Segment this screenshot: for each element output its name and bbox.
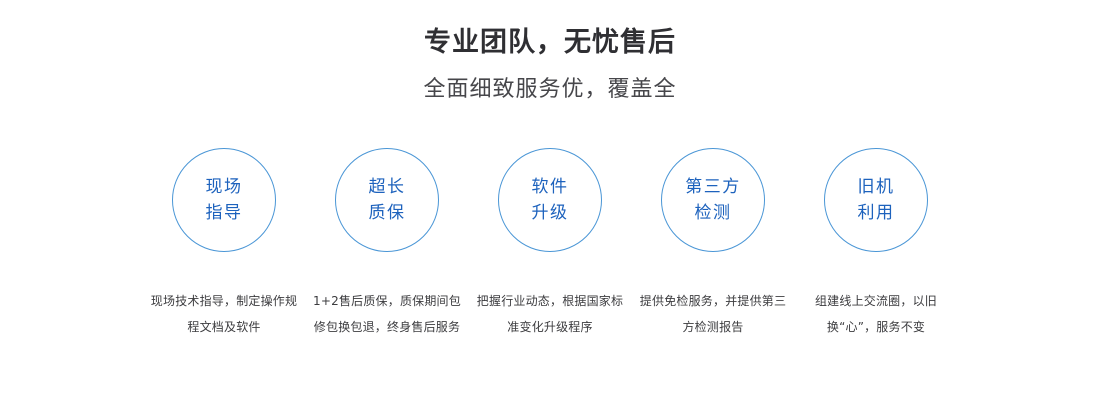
feature-circle-label-line2: 利用 <box>858 200 895 226</box>
feature-caption: 现场技术指导，制定操作规程文档及软件 <box>149 289 299 341</box>
feature-caption: 把握行业动态，根据国家标准变化升级程序 <box>475 289 625 341</box>
heading-block: 专业团队，无忧售后 全面细致服务优，覆盖全 <box>0 0 1100 104</box>
feature-circle-label-line2: 检测 <box>695 200 732 226</box>
service-features-banner: 专业团队，无忧售后 全面细致服务优，覆盖全 现场 指导 现场技术指导，制定操作规… <box>0 0 1100 404</box>
feature-caption: 1+2售后质保，质保期间包修包换包退，终身售后服务 <box>312 289 462 341</box>
feature-circle-label-line1: 旧机 <box>858 174 895 200</box>
feature-item-trade-in[interactable]: 旧机 利用 组建线上交流圈，以旧换“心”，服务不变 <box>800 148 952 341</box>
feature-list: 现场 指导 现场技术指导，制定操作规程文档及软件 超长 质保 1+2售后质保，质… <box>148 148 952 341</box>
feature-item-software-upgrade[interactable]: 软件 升级 把握行业动态，根据国家标准变化升级程序 <box>474 148 626 341</box>
feature-circle-label-line2: 质保 <box>369 200 406 226</box>
feature-item-extended-warranty[interactable]: 超长 质保 1+2售后质保，质保期间包修包换包退，终身售后服务 <box>311 148 463 341</box>
feature-caption: 提供免检服务，并提供第三方检测报告 <box>638 289 788 341</box>
feature-circle-trade-in[interactable]: 旧机 利用 <box>824 148 928 252</box>
feature-circle-label-line2: 指导 <box>206 200 243 226</box>
feature-circle-extended-warranty[interactable]: 超长 质保 <box>335 148 439 252</box>
feature-circle-label-line1: 第三方 <box>685 174 741 200</box>
feature-caption: 组建线上交流圈，以旧换“心”，服务不变 <box>801 289 951 341</box>
feature-circle-label-line2: 升级 <box>532 200 569 226</box>
feature-item-onsite-guidance[interactable]: 现场 指导 现场技术指导，制定操作规程文档及软件 <box>148 148 300 341</box>
feature-item-third-party-testing[interactable]: 第三方 检测 提供免检服务，并提供第三方检测报告 <box>637 148 789 341</box>
feature-circle-label-line1: 软件 <box>532 174 569 200</box>
feature-circle-label-line1: 现场 <box>206 174 243 200</box>
feature-circle-third-party-testing[interactable]: 第三方 检测 <box>661 148 765 252</box>
feature-circle-software-upgrade[interactable]: 软件 升级 <box>498 148 602 252</box>
page-subtitle: 全面细致服务优，覆盖全 <box>0 76 1100 105</box>
feature-circle-onsite-guidance[interactable]: 现场 指导 <box>172 148 276 252</box>
feature-circle-label-line1: 超长 <box>369 174 406 200</box>
page-title: 专业团队，无忧售后 <box>0 26 1100 60</box>
